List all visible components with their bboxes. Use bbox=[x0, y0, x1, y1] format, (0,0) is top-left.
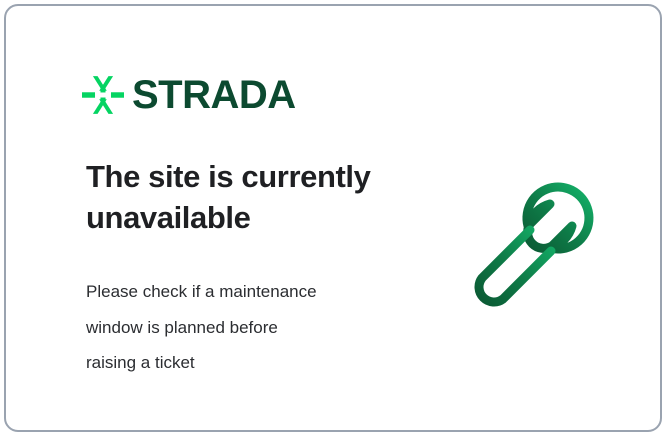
wrench-icon bbox=[464, 158, 620, 314]
description-line: Please check if a maintenance bbox=[86, 274, 416, 310]
page-title: The site is currently unavailable bbox=[86, 156, 426, 238]
message-card: STRADA The site is currently unavailable… bbox=[4, 4, 662, 432]
description-line: window is planned before bbox=[86, 310, 416, 346]
error-page-screen: STRADA The site is currently unavailable… bbox=[0, 0, 666, 436]
page-description: Please check if a maintenance window is … bbox=[86, 274, 416, 381]
brand-wordmark: STRADA bbox=[132, 75, 296, 115]
brand-lockup: STRADA bbox=[82, 74, 296, 116]
strada-asterisk-icon bbox=[82, 74, 124, 116]
description-line: raising a ticket bbox=[86, 345, 416, 381]
